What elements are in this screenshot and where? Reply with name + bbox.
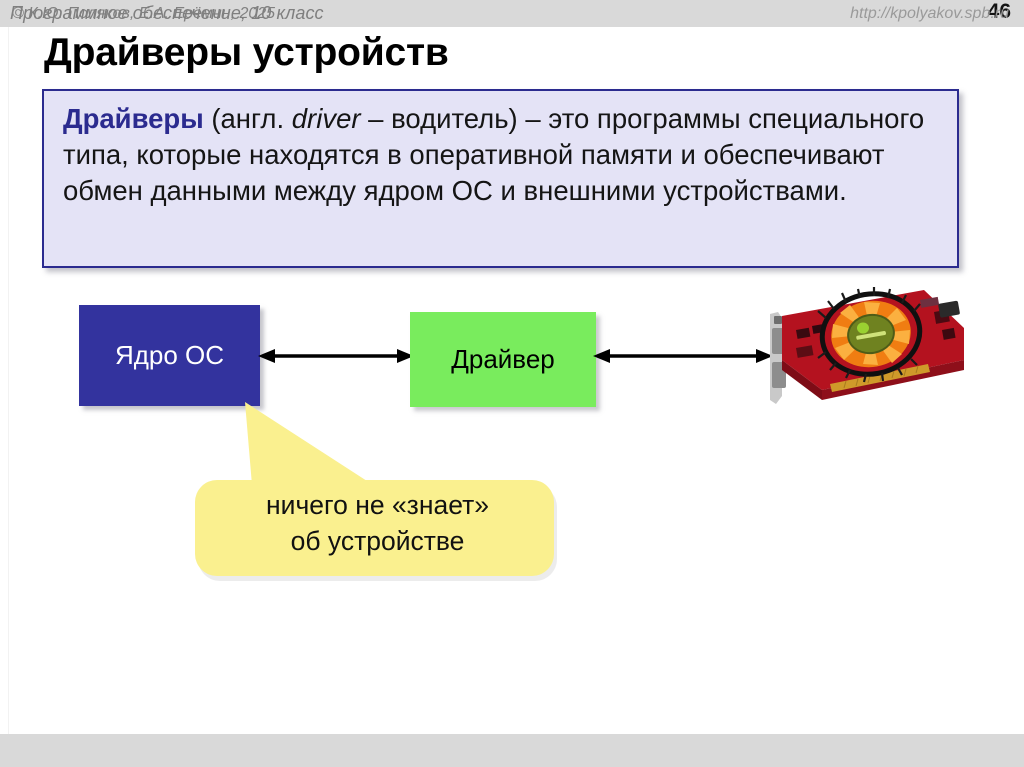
- diagram-kernel-box: Ядро ОС: [79, 305, 260, 406]
- definition-keyword: Драйверы: [63, 103, 204, 134]
- power-connector: [938, 301, 960, 318]
- slide-canvas: Программное обеспечение, 10 класс 46 Дра…: [0, 0, 1024, 767]
- footer-url[interactable]: http://kpolyakov.spb.ru: [850, 5, 1009, 23]
- footer-bar: [0, 734, 1024, 767]
- definition-leadin: (англ.: [204, 103, 292, 134]
- diagram-kernel-label: Ядро ОС: [79, 305, 260, 406]
- definition-box: Драйверы (англ. driver – водитель) – это…: [42, 89, 959, 268]
- page-title: Драйверы устройств: [44, 31, 449, 75]
- driver-device-arrow: [593, 343, 773, 369]
- callout-tail: [245, 402, 367, 485]
- footer-copyright: © К.Ю. Поляков, Е.А. Ерёмин, 2025: [12, 5, 275, 23]
- callout-line-2: об устройстве: [205, 523, 550, 559]
- diagram-driver-label: Драйвер: [410, 312, 596, 407]
- definition-text: Драйверы (англ. driver – водитель) – это…: [63, 101, 949, 209]
- callout-line-1: ничего не «знает»: [205, 487, 550, 523]
- left-margin-rule: [8, 27, 9, 734]
- diagram-driver-box: Драйвер: [410, 312, 596, 407]
- kernel-driver-arrow: [258, 343, 414, 369]
- definition-english-term: driver: [292, 103, 361, 134]
- graphics-card-image: [752, 278, 984, 414]
- callout-text: ничего не «знает» об устройстве: [205, 487, 550, 559]
